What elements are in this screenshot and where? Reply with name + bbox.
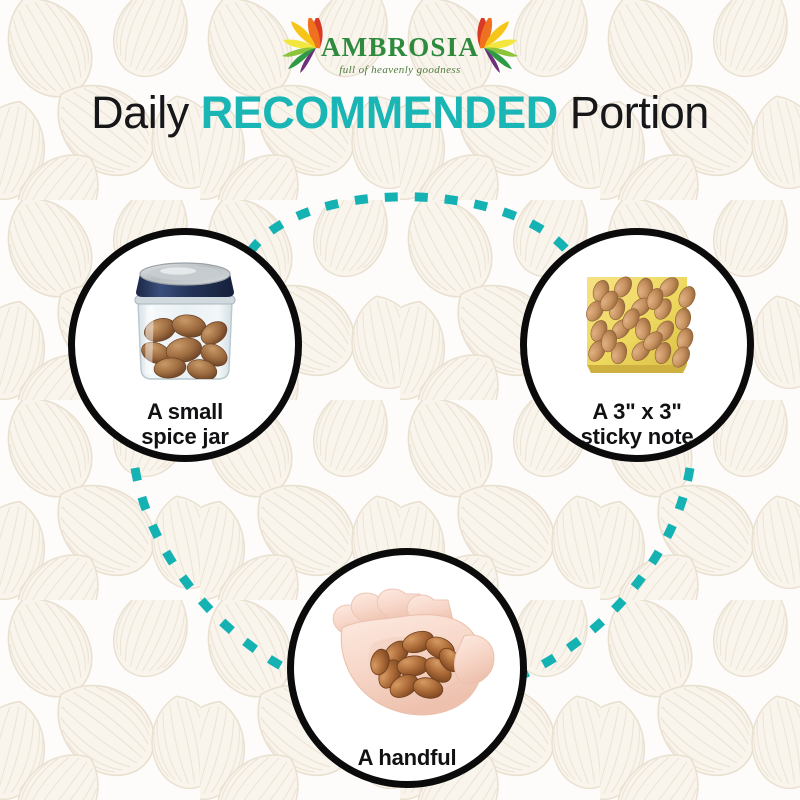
sticky-note-image <box>527 259 747 389</box>
logo-artwork: AMBROSIA full of heavenly goodness <box>276 18 524 80</box>
handful-image <box>294 575 520 735</box>
leaf-cluster-right <box>475 18 518 73</box>
poster-canvas: AMBROSIA full of heavenly goodness Daily… <box>0 0 800 800</box>
portion-card-sticky-note[interactable]: A 3" x 3" sticky note <box>520 228 754 462</box>
sticky-note-illustration <box>573 263 701 385</box>
portion-card-handful[interactable]: A handful <box>287 548 527 788</box>
portion-label-handful: A handful <box>344 745 471 770</box>
title-part-two: Portion <box>558 87 709 138</box>
title-part-one: Daily <box>91 87 201 138</box>
arc-jar-to-note <box>250 197 570 254</box>
title-accent-word: RECOMMENDED <box>201 87 558 138</box>
arc-jar-to-hand <box>135 468 300 676</box>
spice-jar-image <box>75 257 295 387</box>
hand-holding-almonds-illustration <box>314 576 500 734</box>
brand-logo: AMBROSIA full of heavenly goodness <box>0 18 800 80</box>
spice-jar-illustration <box>126 258 244 386</box>
arc-note-to-hand <box>520 468 690 676</box>
brand-name: AMBROSIA <box>321 32 479 62</box>
leaf-cluster-left <box>282 18 325 73</box>
brand-tagline: full of heavenly goodness <box>339 64 461 76</box>
portion-card-spice-jar[interactable]: A small spice jar <box>68 228 302 462</box>
portion-label-sticky-note: A 3" x 3" sticky note <box>567 399 708 449</box>
portion-label-spice-jar: A small spice jar <box>127 399 242 449</box>
page-title: Daily RECOMMENDED Portion <box>0 88 800 138</box>
